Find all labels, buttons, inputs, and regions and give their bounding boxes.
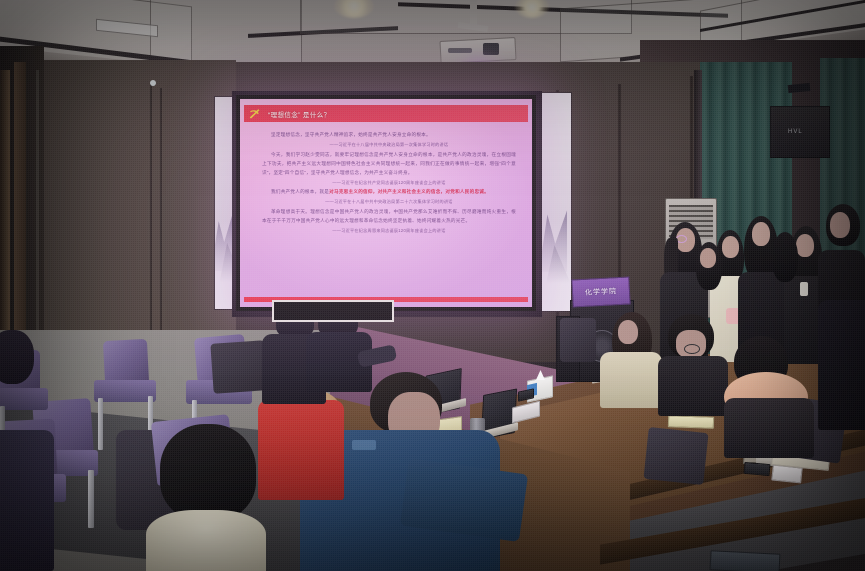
projector-lens — [483, 43, 499, 55]
slide-header-bar: “理想信念” 是什么？ — [244, 105, 528, 122]
slide-paragraph: 革命理想高于天。理想信念是中国共产党人的政治灵魂，中国共产党那么艾难折而不挥、历… — [262, 208, 516, 226]
wall-speaker: HVL — [770, 106, 830, 158]
notebook[interactable] — [668, 415, 714, 429]
slide-paragraph-highlighted: 我们共产党人的根本，就是对马克思主义的信仰，对共产主义和社会主义的信念，对党和人… — [262, 188, 516, 197]
ink-wash-mountain-mural — [540, 92, 572, 312]
collar — [800, 282, 808, 296]
projection-screen: “理想信念” 是什么？ 坚定理想信念，坚守共产党人精神追求，始终是共产党人安身立… — [236, 95, 536, 311]
mural-mist — [541, 219, 571, 311]
fur-collar — [146, 510, 266, 571]
slide-paragraph: 今天，我们学习赵少雯同志，就要牢记理想信念是共产党人安身立命的根本，是共产党人的… — [262, 151, 516, 178]
slide-highlight-text: 对马克思主义的信仰，对共产主义和社会主义的信念，对党和人民的忠诚。 — [329, 189, 489, 194]
phone[interactable] — [744, 462, 771, 476]
hammer-and-sickle-emblem — [248, 107, 261, 120]
slide-citation: ——习近平在十八届中共中央政治局第二十六次集体学习时的讲话 — [262, 198, 516, 206]
wall-seam — [160, 88, 162, 344]
slide-citation: ——习近平在十八届中共中央政治局第一次集体学习时的讲话 — [262, 141, 516, 149]
slide-citation: ——习近平在纪念周恩来同志诞辰120周年座谈会上的讲话 — [262, 227, 516, 235]
department-sign-label: 化学学院 — [585, 286, 617, 298]
speaker-brand-label: HVL — [788, 129, 803, 135]
slide-paragraph-prefix: 我们共产党人的根本，就是 — [271, 189, 329, 194]
slide-citation: ——习近平在纪念共产党同志诞辰120周年座谈会上的讲话 — [262, 179, 516, 187]
jacket-detail — [352, 440, 376, 450]
conference-room-photo: HVL “理想信念” 是什么？ 坚定理想信念，坚守共产党人精神追求，始终是共产党… — [0, 0, 865, 571]
presentation-slide: “理想信念” 是什么？ 坚定理想信念，坚守共产党人精神追求，始终是共产党人安身立… — [240, 99, 532, 307]
wall-seam — [150, 84, 152, 344]
projector-vent — [448, 48, 472, 53]
chair[interactable] — [560, 318, 596, 362]
slide-paragraph: 坚定理想信念，坚守共产党人精神追求，始终是共产党人安身立命的根本。 — [262, 131, 516, 140]
chair[interactable] — [210, 340, 267, 394]
department-sign: 化学学院 — [571, 277, 630, 308]
chair[interactable] — [643, 427, 708, 485]
framed-artwork — [272, 300, 394, 322]
notebook[interactable] — [710, 550, 781, 571]
wall-sensor — [150, 80, 156, 86]
slide-body: 坚定理想信念，坚守共产党人精神追求，始终是共产党人安身立命的根本。 ——习近平在… — [262, 131, 516, 291]
slide-title: “理想信念” 是什么？ — [268, 109, 331, 119]
